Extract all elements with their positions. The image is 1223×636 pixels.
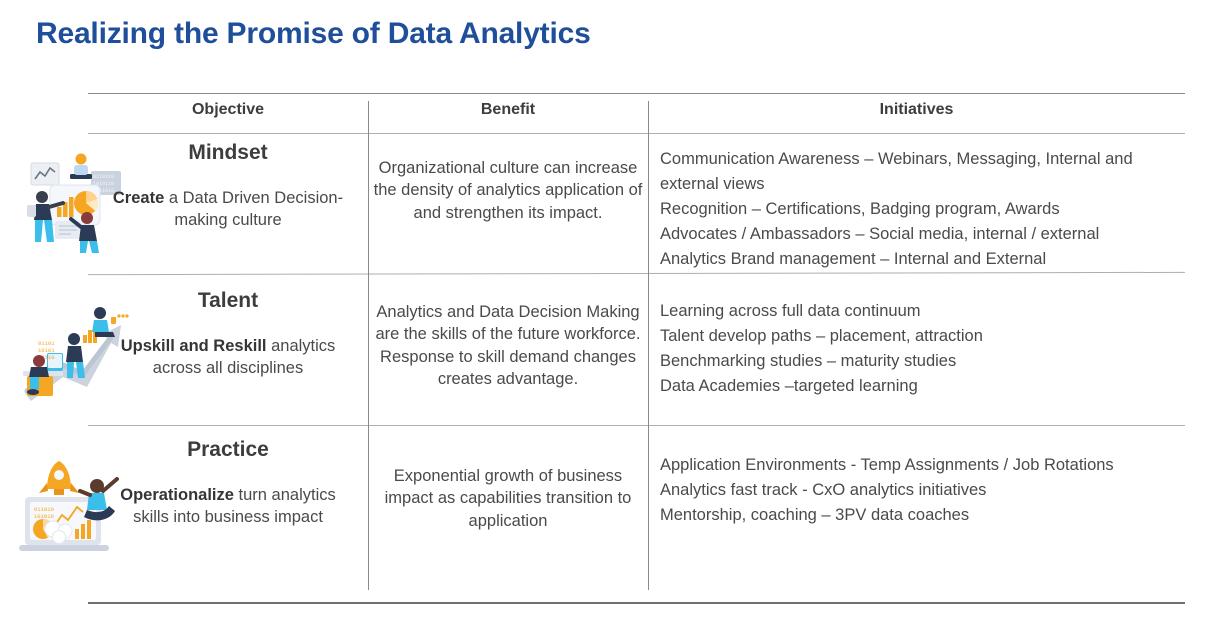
benefit-cell: Analytics and Data Decision Making are t… <box>370 301 646 391</box>
objective-lead: Create <box>113 189 164 207</box>
benefit-cell: Exponential growth of business impact as… <box>370 465 646 532</box>
benefit-cell: Organizational culture can increase the … <box>370 157 646 224</box>
objective-title: Talent <box>88 289 368 313</box>
list-item: Analytics Brand management – Internal an… <box>660 247 1185 272</box>
list-item: Mentorship, coaching – 3PV data coaches <box>660 503 1185 528</box>
objective-cell: Talent Upskill and Reskill analytics acr… <box>88 289 368 380</box>
objective-cell: Mindset Create a Data Driven Decision-ma… <box>88 141 368 232</box>
list-item: Learning across full data continuum <box>660 299 1185 324</box>
table-row: 011010101010 <box>88 438 1185 578</box>
table-row: 011011010101100011010 <box>88 135 1185 265</box>
svg-text:10101: 10101 <box>38 347 55 354</box>
svg-text:101010: 101010 <box>34 513 54 520</box>
objective-title: Mindset <box>88 141 368 165</box>
table-row: 011011010100110 <box>88 285 1185 415</box>
column-header-initiatives: Initiatives <box>648 101 1185 119</box>
svg-text:01101: 01101 <box>38 340 55 347</box>
svg-text:011010: 011010 <box>34 506 54 513</box>
list-item: Analytics fast track - CxO analytics ini… <box>660 478 1185 503</box>
table-bottom-border <box>88 602 1185 604</box>
objective-description: Create a Data Driven Decision-making cul… <box>88 187 368 232</box>
objective-title: Practice <box>88 438 368 462</box>
header-bottom-border <box>88 133 1185 134</box>
objective-description: Operationalize turn analytics skills int… <box>88 484 368 529</box>
objective-lead: Operationalize <box>120 486 234 504</box>
list-item: Recognition – Certifications, Badging pr… <box>660 197 1185 222</box>
page-title: Realizing the Promise of Data Analytics <box>36 17 591 51</box>
initiatives-cell: Learning across full data continuum Tale… <box>660 299 1185 399</box>
objective-rest: a Data Driven Decision-making culture <box>164 189 343 229</box>
list-item: Application Environments - Temp Assignme… <box>660 453 1185 478</box>
list-item: Communication Awareness – Webinars, Mess… <box>660 147 1185 197</box>
initiatives-cell: Communication Awareness – Webinars, Mess… <box>660 147 1185 272</box>
objective-lead: Upskill and Reskill <box>121 337 267 355</box>
column-header-objective: Objective <box>88 101 368 119</box>
objectives-matrix-table: Objective Benefit Initiatives 0110110101… <box>88 93 1185 603</box>
initiatives-cell: Application Environments - Temp Assignme… <box>660 453 1185 528</box>
list-item: Advocates / Ambassadors – Social media, … <box>660 222 1185 247</box>
row-separator-2 <box>88 425 1185 426</box>
column-header-benefit: Benefit <box>368 101 648 119</box>
objective-cell: Practice Operationalize turn analytics s… <box>88 438 368 529</box>
table-header-row: Objective Benefit Initiatives <box>88 93 1185 133</box>
list-item: Talent develop paths – placement, attrac… <box>660 324 1185 349</box>
list-item: Benchmarking studies – maturity studies <box>660 349 1185 374</box>
list-item: Data Academies –targeted learning <box>660 374 1185 399</box>
objective-description: Upskill and Reskill analytics across all… <box>88 335 368 380</box>
